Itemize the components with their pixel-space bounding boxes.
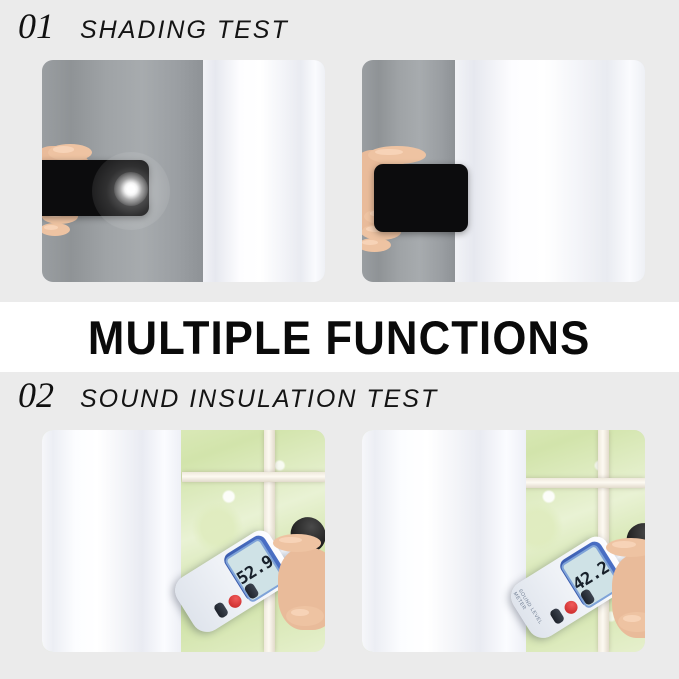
flashlight-beam — [114, 172, 148, 206]
section-title-01: SHADING TEST — [80, 18, 289, 43]
section-header-02: 02 SOUND INSULATION TEST — [0, 377, 679, 421]
finger-index — [48, 144, 92, 161]
smartphone — [374, 164, 468, 232]
window-mullion-horizontal — [520, 478, 645, 488]
panel-shading-light-blocked — [362, 60, 645, 282]
sheer-curtain — [42, 430, 181, 652]
sheer-curtain-white — [455, 60, 645, 282]
banner-text: MULTIPLE FUNCTIONS — [88, 314, 590, 361]
section-number-02: 02 — [18, 377, 54, 413]
finger-index — [273, 534, 321, 552]
sound-scene-left: 52.9 dB — [42, 430, 325, 652]
shading-scene-right — [362, 60, 645, 282]
panel-sound-window-open: 52.9 dB — [42, 430, 325, 652]
section-header-01: 01 SHADING TEST — [0, 8, 679, 54]
sound-scene-right: 42.2 dB SOUND LEVEL METER — [362, 430, 645, 652]
shading-scene-left — [42, 60, 325, 282]
section-title-02: SOUND INSULATION TEST — [80, 387, 438, 412]
infographic-page: 01 SHADING TEST — [0, 0, 679, 679]
sheer-curtain — [362, 430, 526, 652]
sheer-curtain-white — [203, 60, 325, 282]
section-number-01: 01 — [18, 8, 54, 44]
finger-index — [368, 146, 426, 164]
finger-thumb — [286, 606, 324, 626]
panel-sound-curtain-closed: 42.2 dB SOUND LEVEL METER — [362, 430, 645, 652]
banner-multiple-functions: MULTIPLE FUNCTIONS — [0, 302, 679, 372]
meter-reading-value: 52.9 — [233, 552, 277, 590]
meter-reading-value: 42.2 — [569, 558, 613, 596]
panel-shading-light-on — [42, 60, 325, 282]
window-mullion-horizontal — [182, 472, 325, 482]
